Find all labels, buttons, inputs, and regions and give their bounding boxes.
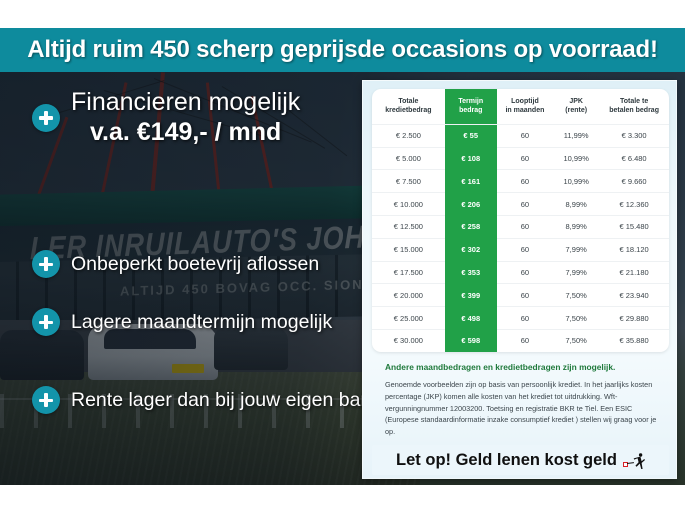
cell-apr: 7,50% xyxy=(553,329,599,352)
cell-total-payable: € 6.480 xyxy=(599,147,669,170)
cell-duration: 60 xyxy=(497,147,553,170)
header-line1: Termijn xyxy=(458,98,483,105)
table-row: € 2.500€ 556011,99%€ 3.300 xyxy=(372,124,669,147)
plus-icon xyxy=(32,104,60,132)
cell-total-credit: € 10.000 xyxy=(372,193,445,216)
cell-duration: 60 xyxy=(497,307,553,330)
cell-installment: € 498 xyxy=(445,307,497,330)
column-header-duration: Looptijd in maanden xyxy=(497,89,553,124)
note-body-text: Genoemde voorbeelden zijn op basis van p… xyxy=(385,379,659,438)
header-line1: Totale te xyxy=(620,98,648,105)
cell-duration: 60 xyxy=(497,216,553,239)
cell-installment: € 353 xyxy=(445,261,497,284)
dealership-photo: LER INRUILAUTO'S JOHAN MEURE ALTIJD 450 … xyxy=(0,72,685,485)
financing-headline-stack: Financieren mogelijk v.a. €149,- / mnd xyxy=(71,88,300,147)
header-line2: kredietbedrag xyxy=(373,106,444,115)
benefit-item-penalty-free-repayment: Onbeperkt boetevrij aflossen xyxy=(32,250,319,278)
finance-advertisement-banner: Altijd ruim 450 scherp geprijsde occasio… xyxy=(0,0,685,513)
header-line2: (rente) xyxy=(554,106,598,115)
cell-total-payable: € 15.480 xyxy=(599,216,669,239)
table-row: € 20.000€ 399607,50%€ 23.940 xyxy=(372,284,669,307)
finance-table-card: Totale kredietbedrag Termijn bedrag Loop… xyxy=(362,80,677,479)
cell-installment: € 108 xyxy=(445,147,497,170)
cell-total-payable: € 18.120 xyxy=(599,238,669,261)
table-row: € 7.500€ 1616010,99%€ 9.660 xyxy=(372,170,669,193)
benefits-list: Financieren mogelijk v.a. €149,- / mnd O… xyxy=(0,72,370,485)
plus-icon xyxy=(32,250,60,278)
cell-installment: € 55 xyxy=(445,124,497,147)
cell-apr: 7,99% xyxy=(553,238,599,261)
credit-warning-text: Let op! Geld lenen kost geld xyxy=(396,451,617,470)
cell-duration: 60 xyxy=(497,284,553,307)
benefit-label: Onbeperkt boetevrij aflossen xyxy=(71,253,319,276)
cell-total-payable: € 23.940 xyxy=(599,284,669,307)
table-row: € 15.000€ 302607,99%€ 18.120 xyxy=(372,238,669,261)
cell-duration: 60 xyxy=(497,193,553,216)
benefit-item-financing: Financieren mogelijk v.a. €149,- / mnd xyxy=(32,88,362,147)
cell-apr: 7,50% xyxy=(553,284,599,307)
credit-warning-bar: Let op! Geld lenen kost geld xyxy=(372,445,669,475)
header-line2: betalen bedrag xyxy=(600,106,668,115)
cell-total-credit: € 20.000 xyxy=(372,284,445,307)
cell-installment: € 161 xyxy=(445,170,497,193)
table-row: € 25.000€ 498607,50%€ 29.880 xyxy=(372,307,669,330)
table-row: € 12.500€ 258608,99%€ 15.480 xyxy=(372,216,669,239)
afm-person-pulling-block-icon xyxy=(623,452,645,469)
cell-duration: 60 xyxy=(497,238,553,261)
benefit-item-lower-interest: Rente lager dan bij jouw eigen bank xyxy=(32,386,381,414)
cell-installment: € 258 xyxy=(445,216,497,239)
cell-duration: 60 xyxy=(497,329,553,352)
column-header-installment: Termijn bedrag xyxy=(445,89,497,124)
finance-table-body: € 2.500€ 556011,99%€ 3.300€ 5.000€ 10860… xyxy=(372,124,669,352)
finance-table-head: Totale kredietbedrag Termijn bedrag Loop… xyxy=(372,89,669,124)
cell-total-payable: € 21.180 xyxy=(599,261,669,284)
cell-duration: 60 xyxy=(497,124,553,147)
cell-total-credit: € 7.500 xyxy=(372,170,445,193)
cell-apr: 8,99% xyxy=(553,193,599,216)
table-header-row: Totale kredietbedrag Termijn bedrag Loop… xyxy=(372,89,669,124)
cell-total-credit: € 30.000 xyxy=(372,329,445,352)
cell-apr: 8,99% xyxy=(553,216,599,239)
header-line1: Totale xyxy=(398,98,418,105)
headline-bar: Altijd ruim 450 scherp geprijsde occasio… xyxy=(0,28,685,72)
cell-total-credit: € 2.500 xyxy=(372,124,445,147)
cell-installment: € 302 xyxy=(445,238,497,261)
cell-total-credit: € 15.000 xyxy=(372,238,445,261)
cell-total-payable: € 29.880 xyxy=(599,307,669,330)
benefit-label: Rente lager dan bij jouw eigen bank xyxy=(71,389,381,412)
cell-duration: 60 xyxy=(497,261,553,284)
cell-duration: 60 xyxy=(497,170,553,193)
cell-apr: 7,50% xyxy=(553,307,599,330)
header-line2: bedrag xyxy=(446,106,496,115)
cell-total-credit: € 5.000 xyxy=(372,147,445,170)
finance-table: Totale kredietbedrag Termijn bedrag Loop… xyxy=(372,89,669,352)
plus-icon xyxy=(32,386,60,414)
cell-installment: € 598 xyxy=(445,329,497,352)
cell-total-payable: € 12.360 xyxy=(599,193,669,216)
column-header-apr: JPK (rente) xyxy=(553,89,599,124)
cell-total-credit: € 17.500 xyxy=(372,261,445,284)
cell-total-credit: € 25.000 xyxy=(372,307,445,330)
header-line2: in maanden xyxy=(498,106,552,115)
financing-headline-line1: Financieren mogelijk xyxy=(71,88,300,118)
cell-total-payable: € 3.300 xyxy=(599,124,669,147)
cell-installment: € 399 xyxy=(445,284,497,307)
table-row: € 10.000€ 206608,99%€ 12.360 xyxy=(372,193,669,216)
column-header-total-payable: Totale te betalen bedrag xyxy=(599,89,669,124)
cell-installment: € 206 xyxy=(445,193,497,216)
header-line1: JPK xyxy=(569,98,583,105)
cell-total-payable: € 9.660 xyxy=(599,170,669,193)
table-row: € 5.000€ 1086010,99%€ 6.480 xyxy=(372,147,669,170)
cell-total-payable: € 35.880 xyxy=(599,329,669,352)
financing-headline-line2: v.a. €149,- / mnd xyxy=(71,118,300,148)
benefit-label: Lagere maandtermijn mogelijk xyxy=(71,311,332,334)
cell-total-credit: € 12.500 xyxy=(372,216,445,239)
plus-icon xyxy=(32,308,60,336)
cell-apr: 11,99% xyxy=(553,124,599,147)
column-header-total-credit: Totale kredietbedrag xyxy=(372,89,445,124)
table-row: € 30.000€ 598607,50%€ 35.880 xyxy=(372,329,669,352)
note-heading: Andere maandbedragen en kredietbedragen … xyxy=(385,362,660,373)
header-line1: Looptijd xyxy=(511,98,539,105)
benefit-item-lower-monthly-term: Lagere maandtermijn mogelijk xyxy=(32,308,332,336)
headline-text: Altijd ruim 450 scherp geprijsde occasio… xyxy=(27,36,658,64)
afm-person-shape xyxy=(633,453,645,469)
cell-apr: 10,99% xyxy=(553,170,599,193)
table-row: € 17.500€ 353607,99%€ 21.180 xyxy=(372,261,669,284)
cell-apr: 7,99% xyxy=(553,261,599,284)
cell-apr: 10,99% xyxy=(553,147,599,170)
finance-table-wrapper: Totale kredietbedrag Termijn bedrag Loop… xyxy=(372,89,669,352)
